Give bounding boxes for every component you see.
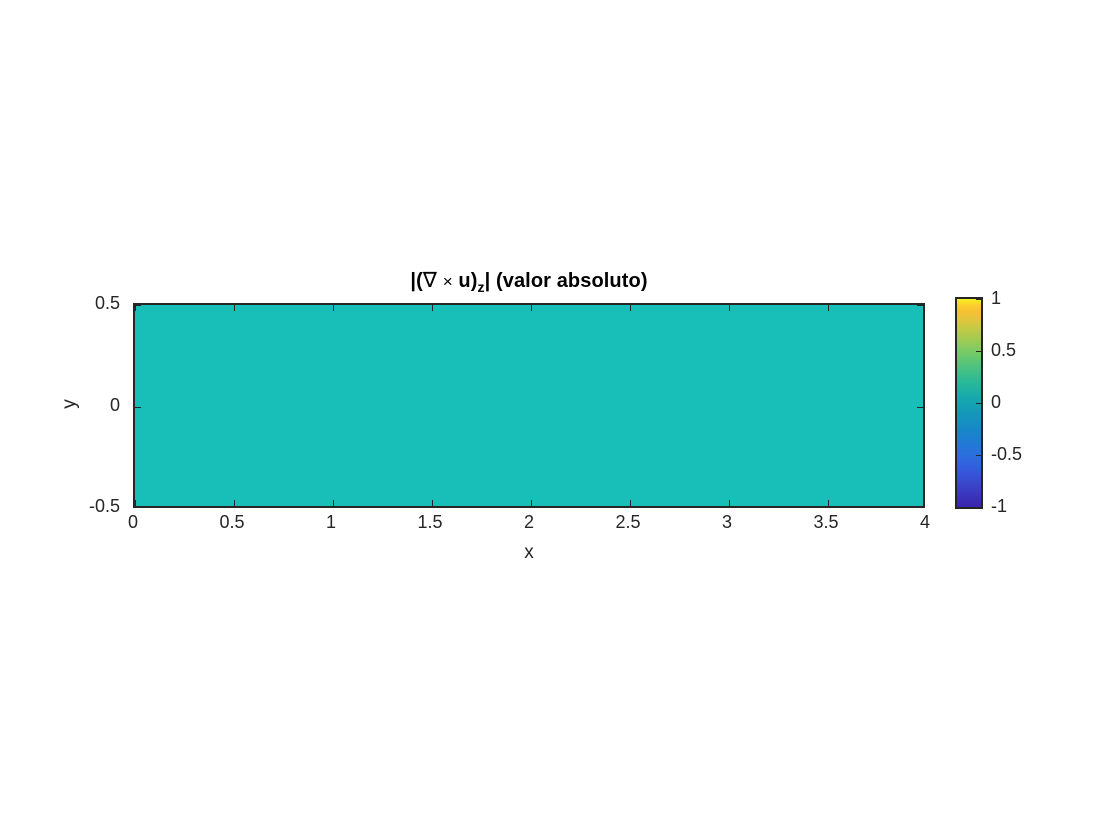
xtick-bottom-1.5 (432, 500, 433, 506)
xtick-top-1 (333, 305, 334, 311)
colorbar-label--0.5: -0.5 (991, 444, 1022, 465)
plot-title: |(∇ × u)z| (valor absoluto) (133, 268, 925, 295)
xtick-top-3 (729, 305, 730, 311)
colorbar-label-0: 0 (991, 392, 1001, 413)
colorbar-tick-1 (976, 299, 981, 300)
xticklabel-4: 4 (920, 512, 930, 533)
xticklabel-3: 3 (722, 512, 732, 533)
y-axis-label: y (59, 386, 81, 422)
colorbar-label-1: 1 (991, 288, 1001, 309)
xtick-top-3.5 (828, 305, 829, 311)
figure-canvas: |(∇ × u)z| (valor absoluto) (0, 0, 1120, 840)
xticklabel-3.5: 3.5 (813, 512, 838, 533)
title-close-bar: | (485, 270, 491, 292)
yticklabel-0: 0 (110, 395, 120, 416)
colorbar-tick--0.5 (976, 455, 981, 456)
xticklabel-0: 0 (128, 512, 138, 533)
xtick-top-0.5 (234, 305, 235, 311)
xtick-bottom-2 (531, 500, 532, 506)
xtick-bottom-3.5 (828, 500, 829, 506)
colorbar-label--1: -1 (991, 496, 1007, 517)
title-subscript-z: z (477, 279, 484, 295)
xticklabel-2.5: 2.5 (615, 512, 640, 533)
colorbar-label-0.5: 0.5 (991, 340, 1016, 361)
cross-product-icon: × (443, 272, 453, 291)
yticklabel--0.5: -0.5 (89, 496, 120, 517)
ytick-left-0 (135, 407, 141, 408)
title-open-bar: |( (410, 270, 422, 292)
colorbar-tick--1 (976, 507, 981, 508)
ytick-right-0 (917, 407, 923, 408)
title-suffix: (valor absoluto) (496, 270, 648, 292)
ytick-right-0.5 (917, 305, 923, 306)
xticklabel-2: 2 (524, 512, 534, 533)
colorbar-tick-0.5 (976, 351, 981, 352)
title-vector-u: u (458, 270, 470, 292)
axes-plot-area (133, 303, 925, 508)
xtick-bottom-3 (729, 500, 730, 506)
xtick-top-2.5 (630, 305, 631, 311)
xtick-bottom-1 (333, 500, 334, 506)
ytick-left-0.5 (135, 305, 141, 306)
nabla-icon: ∇ (423, 269, 437, 292)
xticklabel-1: 1 (326, 512, 336, 533)
x-axis-label: x (133, 542, 925, 564)
xticklabel-1.5: 1.5 (417, 512, 442, 533)
colorbar (955, 297, 983, 509)
yticklabel-0.5: 0.5 (95, 293, 120, 314)
xtick-top-2 (531, 305, 532, 311)
xtick-top-1.5 (432, 305, 433, 311)
xtick-bottom-2.5 (630, 500, 631, 506)
xtick-bottom-0.5 (234, 500, 235, 506)
xtick-bottom-0 (135, 500, 136, 506)
colorbar-tick-0 (976, 403, 981, 404)
heatmap-field (135, 305, 923, 506)
xticklabel-0.5: 0.5 (219, 512, 244, 533)
